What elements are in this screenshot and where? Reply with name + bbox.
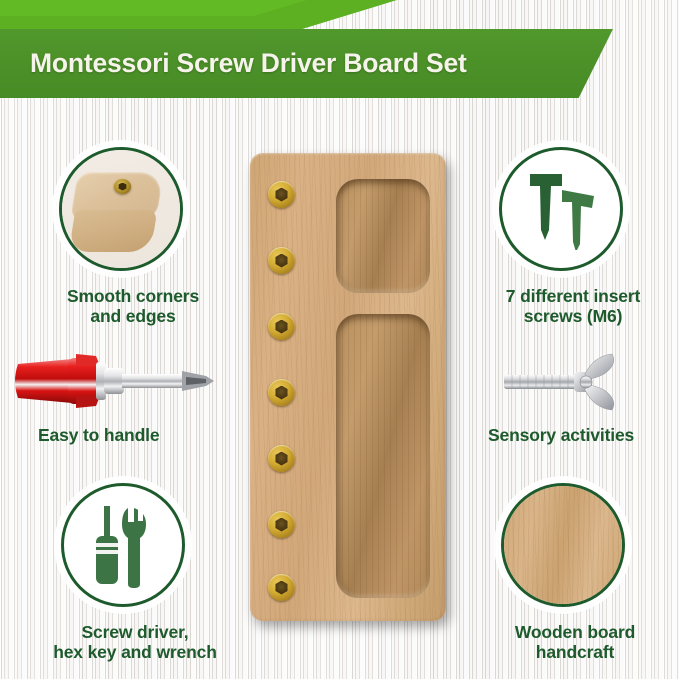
product-infographic: Montessori Screw Driver Board Set Smooth… [0,0,679,679]
wooden-board-photo [501,483,625,607]
feature-tools-included: Screw driver, hex key and wrench [47,483,223,663]
block-front-face [69,210,158,252]
red-screwdriver-photo [10,350,216,412]
board-insert-screw-7 [268,574,295,601]
board-insert-screw-6 [268,511,295,538]
board-insert-screw-5 [268,445,295,472]
board-insert-screw-3 [268,313,295,340]
insert-screws-icon-circle [499,147,623,271]
wood-block-corner-icon [62,150,180,268]
screwdriver-icon [10,350,216,412]
feature-insert-screws: 7 different insert screws (M6) [487,147,659,327]
two-screws-icon [518,168,604,250]
smooth-corners-photo [59,147,183,271]
feature-caption-wooden-board: Wooden board handcraft [487,622,663,663]
board-recess-top [336,179,430,293]
product-photo-wooden-board [250,153,446,621]
header-banner: Montessori Screw Driver Board Set [0,29,613,98]
board-insert-screw-4 [268,379,295,406]
feature-caption-sensory-activities: Sensory activities [488,425,634,446]
wing-bolt-photo [500,352,626,414]
feature-caption-insert-screws: 7 different insert screws (M6) [487,286,659,327]
board-recess-bottom [336,314,430,598]
tools-icon-circle [61,483,185,607]
board-insert-screw-1 [268,181,295,208]
feature-caption-tools-included: Screw driver, hex key and wrench [47,622,223,663]
feature-caption-smooth-corners: Smooth corners and edges [47,286,219,327]
block-hex-screw-icon [114,179,131,194]
feature-smooth-corners: Smooth corners and edges [47,147,219,327]
board-insert-screw-2 [268,247,295,274]
feature-wooden-board: Wooden board handcraft [487,483,663,663]
screwdriver-wrench-icon [84,502,162,588]
wing-bolt-icon [500,352,626,414]
page-title: Montessori Screw Driver Board Set [0,48,467,79]
feature-caption-easy-to-handle: Easy to handle [38,425,159,446]
wood-grain-icon [504,486,622,604]
